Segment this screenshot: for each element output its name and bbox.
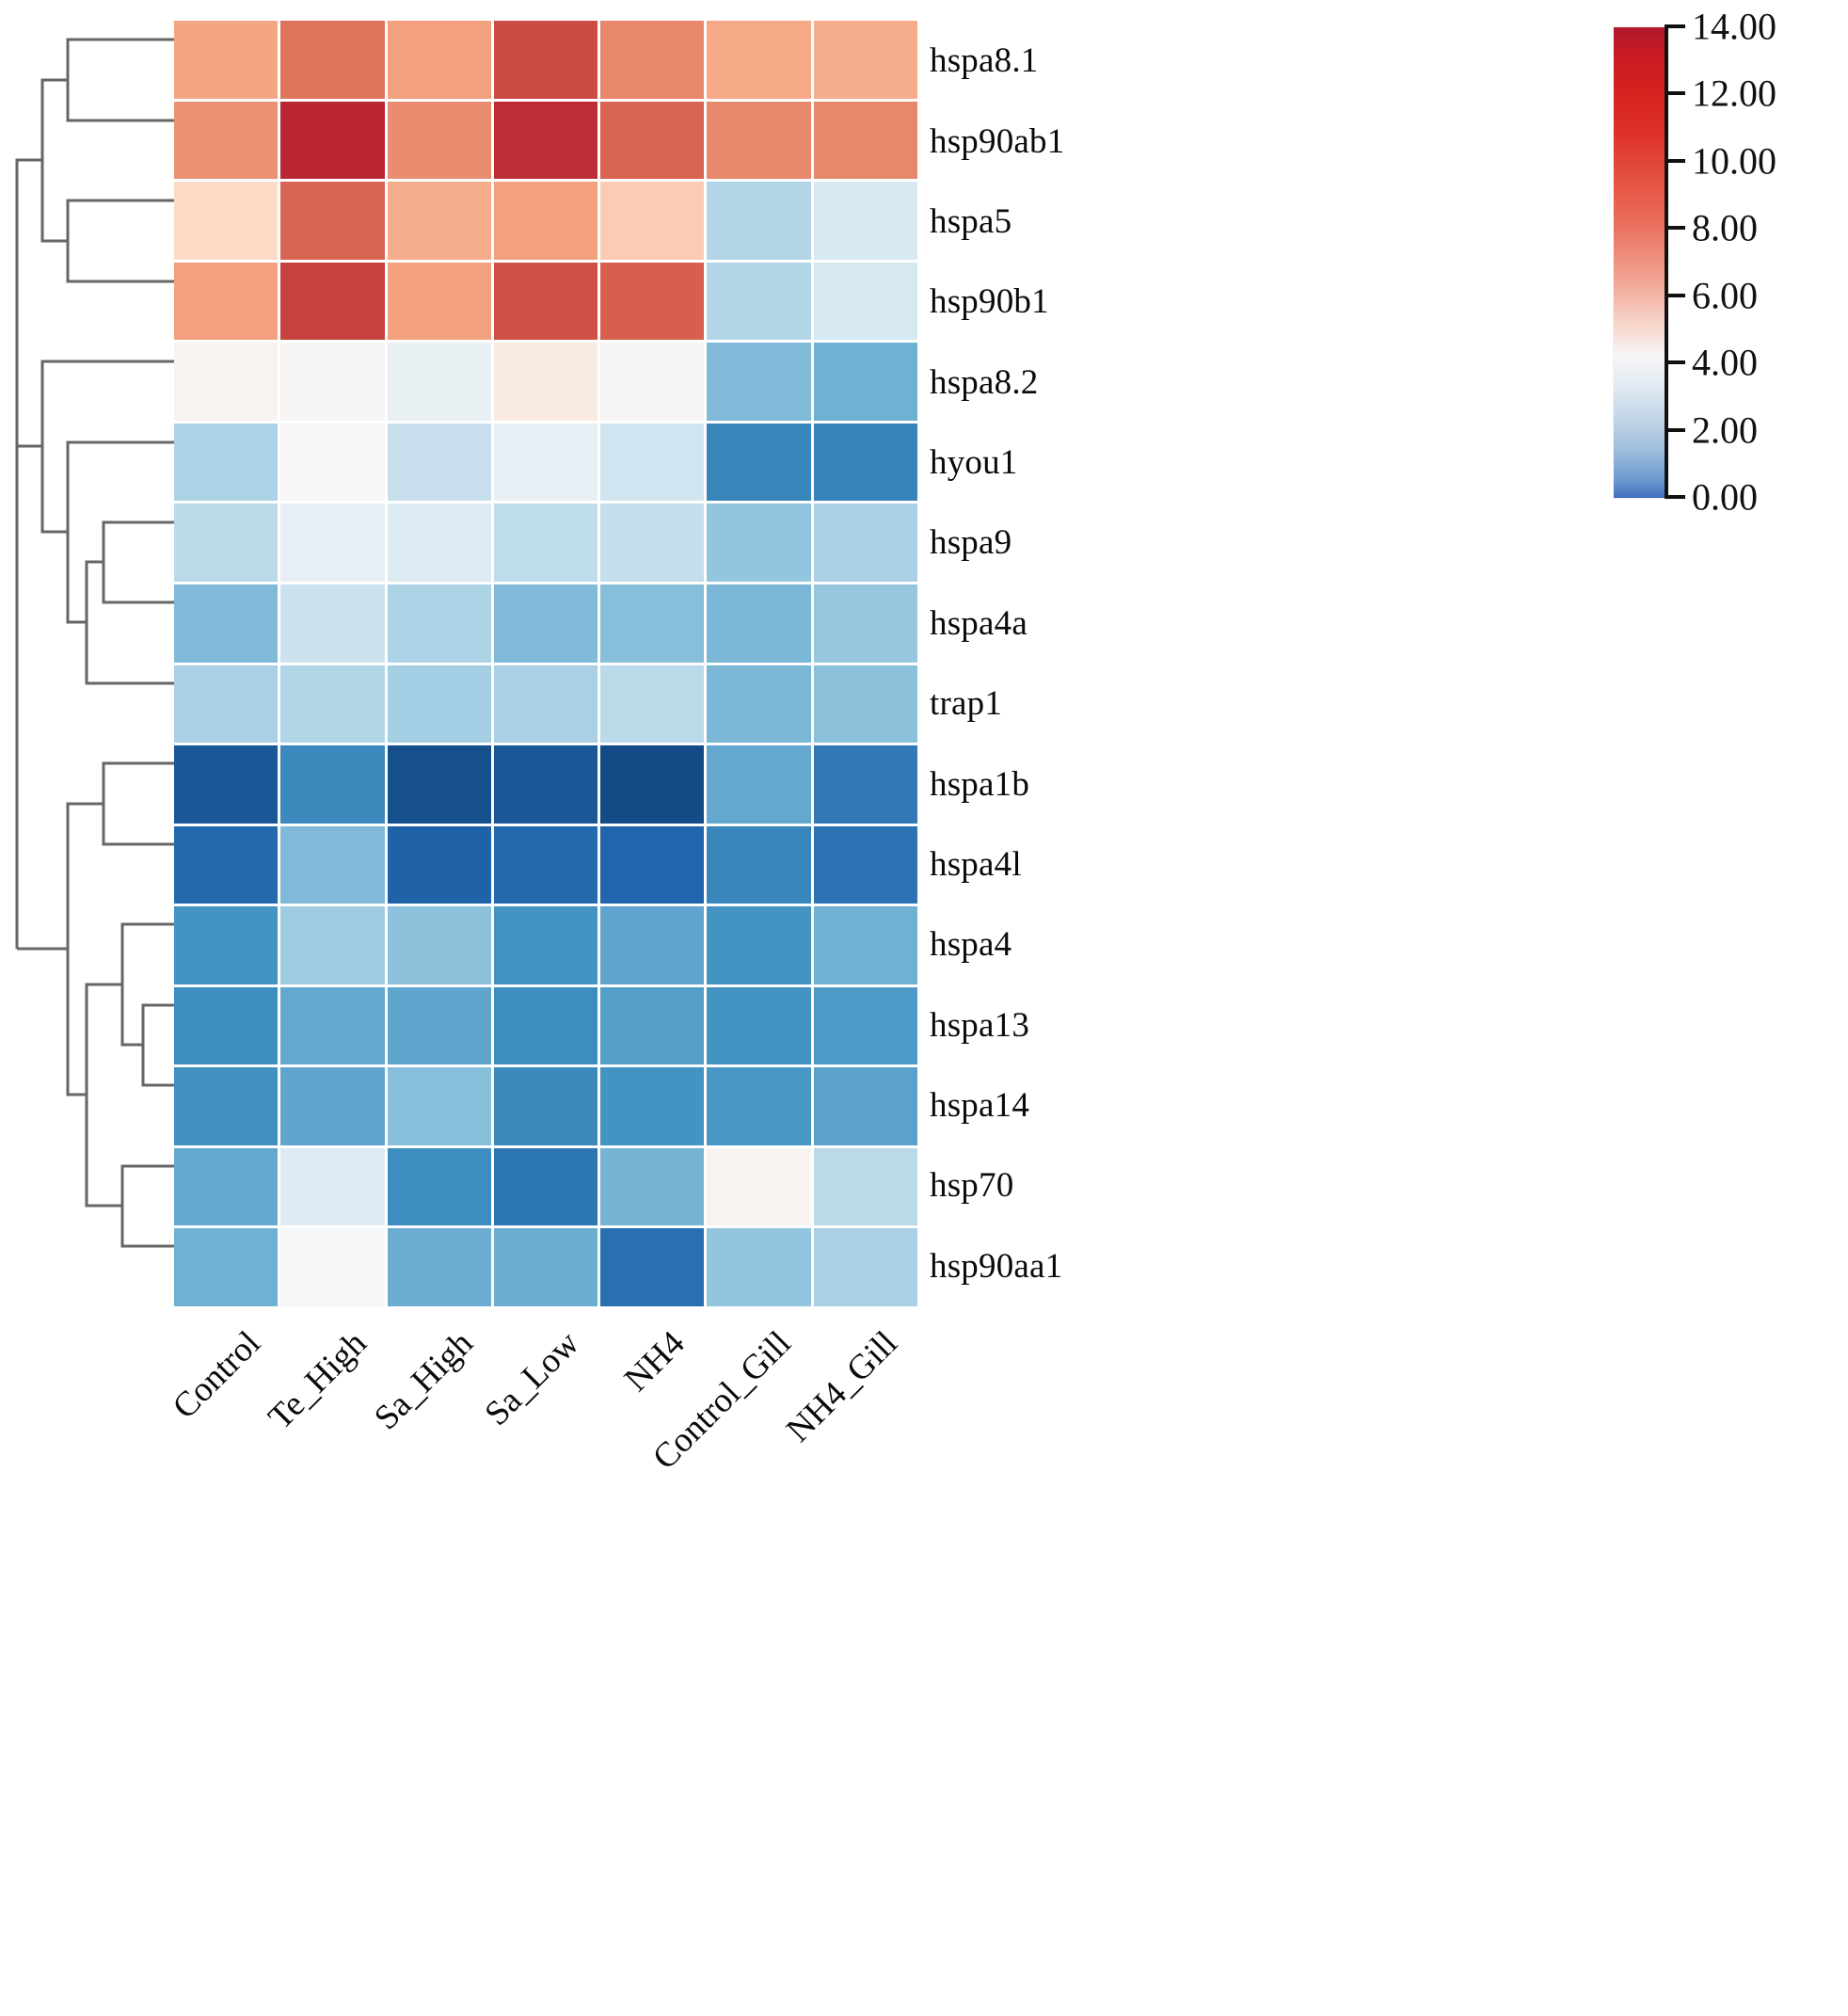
column-label: Sa_High	[366, 1323, 481, 1438]
heatmap-cell	[707, 826, 810, 904]
heatmap-cell	[494, 1148, 597, 1226]
heatmap-cell	[814, 665, 917, 744]
colorbar-tick-label: 4.00	[1692, 341, 1758, 385]
row-label: hyou1	[930, 423, 1250, 503]
colorbar-tick-label: 10.00	[1692, 138, 1776, 183]
row-label: hspa9	[930, 503, 1250, 583]
heatmap-cell	[707, 102, 810, 180]
heatmap-cell	[494, 343, 597, 421]
colorbar-tick	[1665, 360, 1685, 364]
row-label: hspa14	[930, 1065, 1250, 1145]
row-dendrogram	[0, 0, 179, 1308]
heatmap-cell	[707, 343, 810, 421]
heatmap-cell	[707, 1228, 810, 1306]
heatmap-cell	[174, 21, 278, 99]
heatmap-cell	[600, 1228, 704, 1306]
heatmap-cell	[600, 343, 704, 421]
row-label: hspa8.2	[930, 343, 1250, 423]
heatmap-cell	[174, 745, 278, 824]
heatmap-cell	[494, 987, 597, 1065]
heatmap-cell	[707, 665, 810, 744]
heatmap-cell	[707, 21, 810, 99]
heatmap-cell	[280, 745, 384, 824]
heatmap-cell	[174, 263, 278, 341]
colorbar-tick-label: 6.00	[1692, 273, 1758, 317]
heatmap-cell	[174, 1148, 278, 1226]
colorbar-tick-label: 12.00	[1692, 72, 1776, 116]
heatmap-cell	[280, 1067, 384, 1145]
heatmap-cell	[174, 826, 278, 904]
heatmap-cell	[814, 1228, 917, 1306]
heatmap-cell	[814, 21, 917, 99]
colorbar-tick	[1665, 159, 1685, 163]
heatmap-cell	[388, 504, 491, 582]
heatmap-cell	[707, 182, 810, 260]
heatmap-cell	[494, 906, 597, 984]
heatmap-cell	[494, 424, 597, 502]
heatmap-cell	[600, 424, 704, 502]
heatmap-cell	[600, 826, 704, 904]
heatmap-cell	[388, 424, 491, 502]
heatmap-cell	[174, 1067, 278, 1145]
heatmap-cell	[814, 826, 917, 904]
heatmap-cell	[174, 504, 278, 582]
heatmap-cell	[494, 263, 597, 341]
heatmap-cell	[814, 987, 917, 1065]
heatmap-cell	[174, 665, 278, 744]
colorbar-axis	[1665, 26, 1668, 497]
heatmap-cell	[494, 665, 597, 744]
heatmap-cell	[494, 182, 597, 260]
heatmap-cell	[280, 21, 384, 99]
heatmap-cell	[174, 182, 278, 260]
heatmap-cell	[388, 102, 491, 180]
heatmap-cell	[814, 102, 917, 180]
heatmap-cell	[388, 343, 491, 421]
colorbar-tick	[1665, 24, 1685, 28]
heatmap-cell	[174, 343, 278, 421]
heatmap-cell	[388, 665, 491, 744]
heatmap-cell	[174, 102, 278, 180]
heatmap-cell	[280, 826, 384, 904]
heatmap-cell	[388, 182, 491, 260]
heatmap-cell	[280, 1148, 384, 1226]
colorbar-tick-label: 2.00	[1692, 408, 1758, 452]
heatmap-cell	[280, 263, 384, 341]
heatmap-cell	[494, 584, 597, 663]
heatmap-cell	[280, 906, 384, 984]
heatmap-cell	[707, 584, 810, 663]
heatmap-cell	[600, 1067, 704, 1145]
column-label: Sa_Low	[476, 1323, 587, 1434]
heatmap-cell	[280, 665, 384, 744]
heatmap-cell	[280, 584, 384, 663]
heatmap-cell	[280, 987, 384, 1065]
heatmap-cell	[280, 343, 384, 421]
row-label: hspa1b	[930, 744, 1250, 824]
heatmap-figure: hspa8.1hsp90ab1hspa5hsp90b1hspa8.2hyou1h…	[0, 0, 1848, 2016]
heatmap-cell	[280, 182, 384, 260]
heatmap-cell	[600, 182, 704, 260]
heatmap-cell	[707, 1067, 810, 1145]
column-label: NH4_Gill	[778, 1323, 905, 1450]
colorbar-tick	[1665, 495, 1685, 499]
heatmap-cell	[174, 1228, 278, 1306]
heatmap-cell	[388, 1067, 491, 1145]
colorbar-tick	[1665, 428, 1685, 432]
heatmap-cell	[600, 504, 704, 582]
heatmap-cell	[600, 745, 704, 824]
row-label: hsp70	[930, 1145, 1250, 1225]
column-label: Control	[165, 1323, 268, 1427]
heatmap-cell	[814, 745, 917, 824]
heatmap-cell	[494, 102, 597, 180]
column-labels: ControlTe_HighSa_HighSa_LowNH4Control_Gi…	[174, 1310, 917, 1621]
row-labels: hspa8.1hsp90ab1hspa5hsp90b1hspa8.2hyou1h…	[930, 21, 1250, 1306]
row-label: trap1	[930, 664, 1250, 744]
row-label: hsp90aa1	[930, 1226, 1250, 1306]
heatmap-cell	[707, 906, 810, 984]
heatmap-cell	[174, 584, 278, 663]
row-label: hspa4a	[930, 584, 1250, 664]
heatmap-cell	[600, 987, 704, 1065]
heatmap-cell	[280, 424, 384, 502]
heatmap-cell	[388, 1228, 491, 1306]
heatmap-cell	[280, 1228, 384, 1306]
heatmap-cell	[494, 504, 597, 582]
heatmap-cell	[494, 21, 597, 99]
heatmap-cell	[494, 1228, 597, 1306]
heatmap-cell	[280, 504, 384, 582]
heatmap-cell	[494, 1067, 597, 1145]
heatmap-cell	[814, 504, 917, 582]
heatmap-cell	[814, 1148, 917, 1226]
row-label: hspa13	[930, 985, 1250, 1065]
heatmap-cell	[388, 584, 491, 663]
heatmap-cell	[174, 424, 278, 502]
heatmap-cell	[388, 263, 491, 341]
colorbar-tick	[1665, 91, 1685, 95]
colorbar-tick-label: 8.00	[1692, 206, 1758, 250]
colorbar-tick-label: 14.00	[1692, 5, 1776, 49]
heatmap-cell	[388, 21, 491, 99]
heatmap-cell	[388, 745, 491, 824]
heatmap-cell	[707, 424, 810, 502]
row-label: hspa8.1	[930, 21, 1250, 101]
heatmap-cell	[814, 906, 917, 984]
colorbar-tick	[1665, 294, 1685, 297]
heatmap-cell	[174, 906, 278, 984]
heatmap-cell	[388, 906, 491, 984]
heatmap-cell	[600, 263, 704, 341]
heatmap-cell	[814, 424, 917, 502]
heatmap-cell	[494, 826, 597, 904]
heatmap-cell	[814, 182, 917, 260]
heatmap-cell	[707, 504, 810, 582]
heatmap-cell	[707, 987, 810, 1065]
heatmap-cell	[707, 745, 810, 824]
colorbar-gradient	[1613, 26, 1666, 499]
heatmap-cell	[600, 21, 704, 99]
heatmap-cell	[174, 987, 278, 1065]
row-label: hsp90b1	[930, 262, 1250, 342]
heatmap-cell	[600, 906, 704, 984]
heatmap-cell	[707, 263, 810, 341]
heatmap-cell	[280, 102, 384, 180]
heatmap-cell	[388, 826, 491, 904]
row-label: hspa4l	[930, 824, 1250, 904]
colorbar-tick-label: 0.00	[1692, 475, 1758, 520]
heatmap-cell	[600, 1148, 704, 1226]
heatmap-cell	[814, 343, 917, 421]
heatmap-cell	[600, 584, 704, 663]
heatmap-cell	[707, 1148, 810, 1226]
heatmap-cell	[494, 745, 597, 824]
column-label: NH4	[617, 1323, 693, 1400]
heatmap-cell	[600, 102, 704, 180]
heatmap-cell	[600, 665, 704, 744]
heatmap-cell	[388, 1148, 491, 1226]
heatmap-grid	[174, 21, 917, 1306]
row-label: hsp90ab1	[930, 101, 1250, 181]
row-label: hspa4	[930, 904, 1250, 984]
heatmap-cell	[814, 263, 917, 341]
colorbar-tick	[1665, 226, 1685, 230]
column-label: Te_High	[261, 1323, 375, 1438]
row-label: hspa5	[930, 182, 1250, 262]
heatmap-cell	[388, 987, 491, 1065]
heatmap-cell	[814, 584, 917, 663]
heatmap-cell	[814, 1067, 917, 1145]
